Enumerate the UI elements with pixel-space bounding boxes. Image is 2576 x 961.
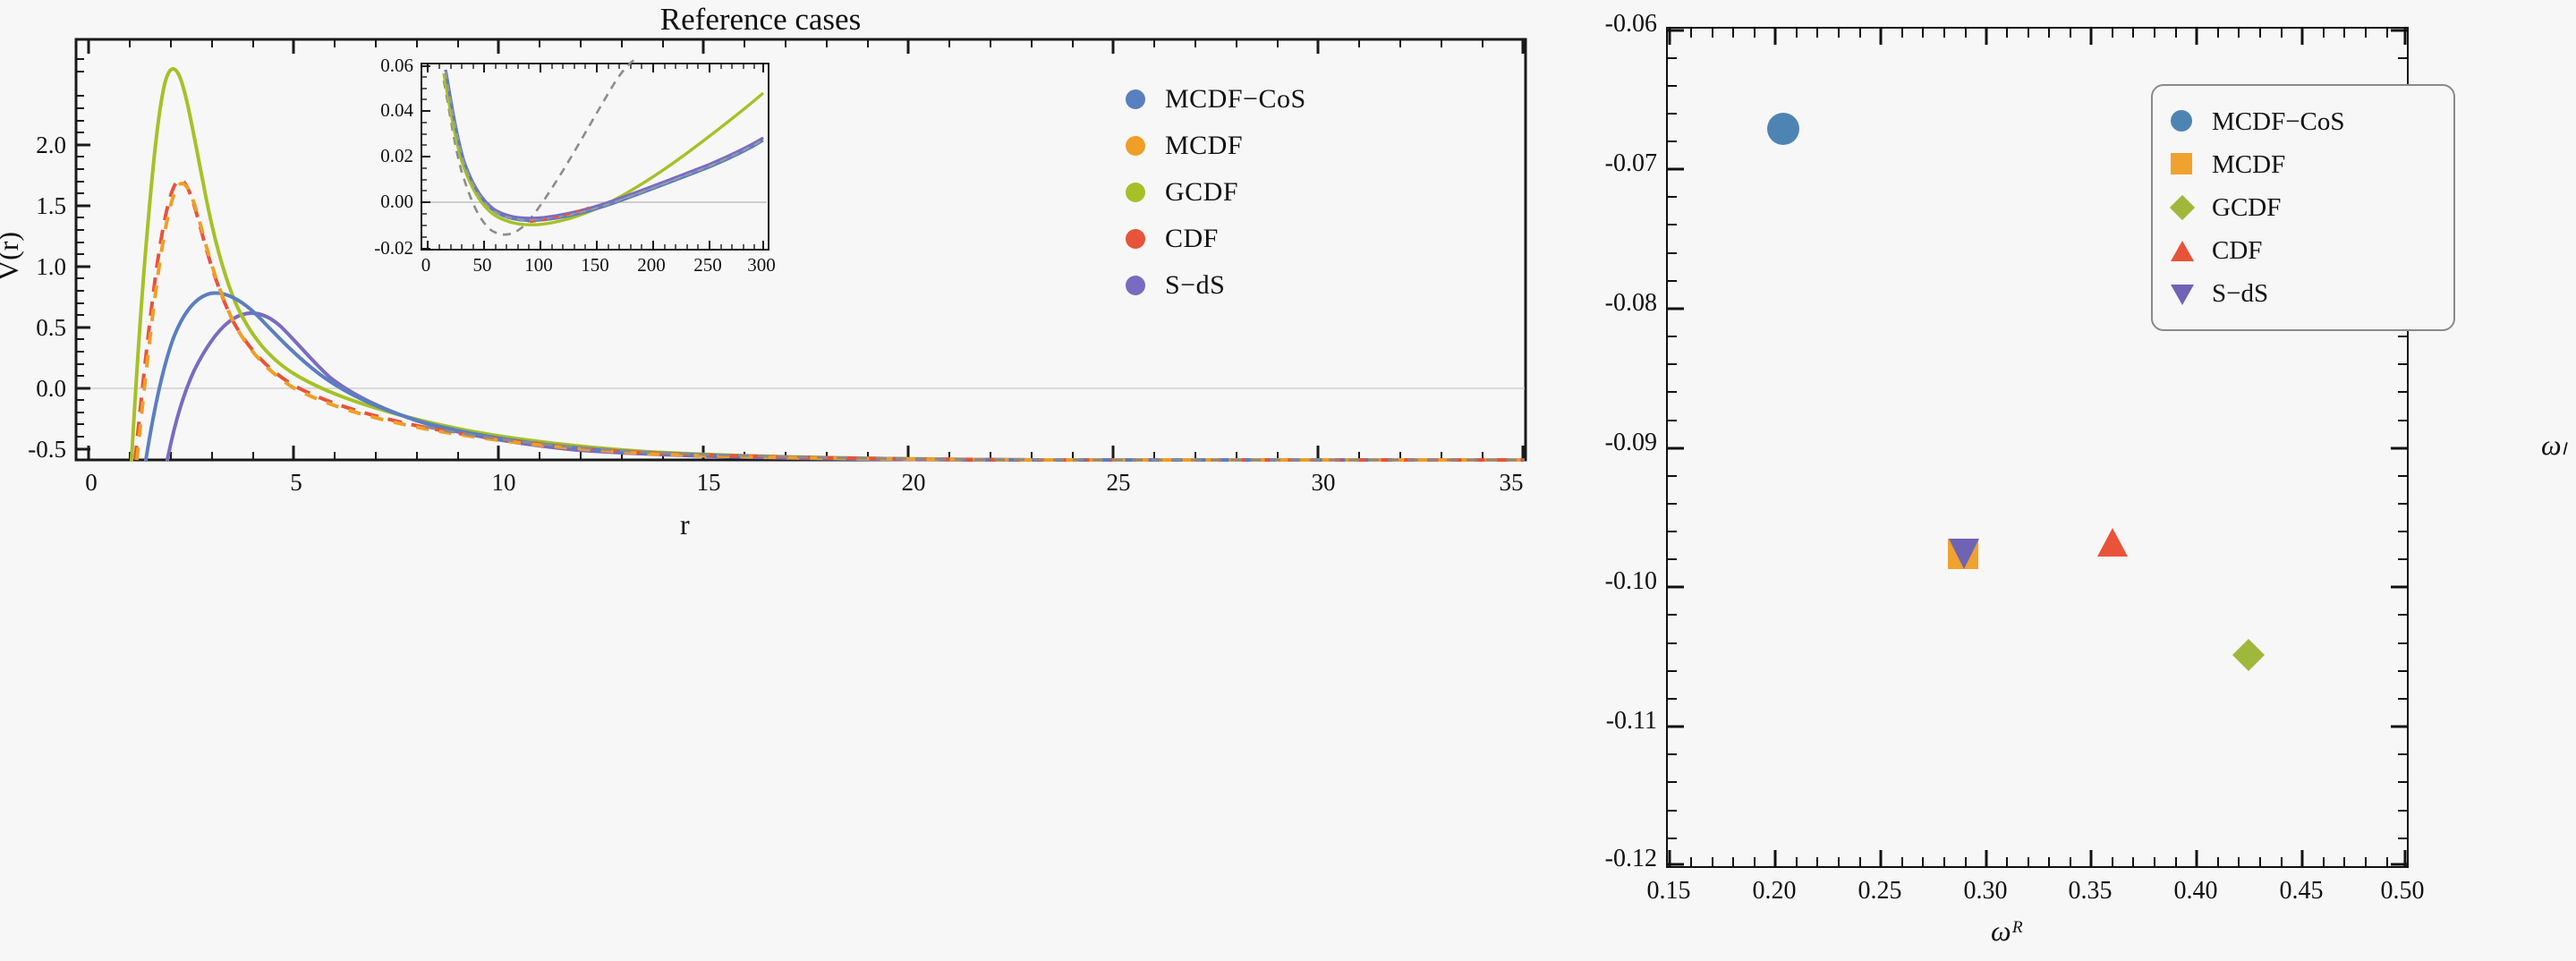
y-tick-label: 0.5	[7, 314, 66, 342]
qnm-scatter-panel: MCDF−CoS MCDF GCDF CDF	[1521, 0, 2576, 961]
legend-label: MCDF	[1165, 131, 1243, 161]
inset-y-tick-label: 0.04	[356, 99, 413, 122]
right-y-tick-label: -0.11	[1539, 707, 1657, 736]
inset-x-tick-label: 50	[464, 254, 500, 276]
legend-item-gcdf[interactable]: GCDF	[1126, 169, 1376, 216]
right-x-tick-label: 0.20	[1730, 877, 1819, 906]
legend-label: S−dS	[1165, 270, 1225, 301]
legend-item-mcdf[interactable]: MCDF	[2171, 143, 2437, 186]
page-title: Reference cases	[0, 2, 1521, 38]
legend-label: CDF	[2212, 236, 2262, 266]
right-axes-frame: MCDF−CoS MCDF GCDF CDF	[1666, 27, 2409, 868]
legend-item-mcdf-cos[interactable]: MCDF−CoS	[2171, 100, 2437, 143]
inset-x-tick-label: 150	[575, 254, 615, 276]
legend-label: MCDF	[2212, 150, 2285, 180]
legend-label: MCDF−CoS	[1165, 84, 1306, 115]
inset-y-tick-label: 0.06	[356, 55, 413, 77]
legend-item-s-ds[interactable]: S−dS	[1126, 262, 1376, 309]
right-y-tick-label: -0.12	[1539, 845, 1657, 873]
legend-marker-circle-icon	[1126, 89, 1145, 109]
left-plot-legend: MCDF−CoS MCDF GCDF CDF S−dS	[1126, 76, 1376, 309]
right-y-axis-title: ωₗ	[2541, 428, 2566, 462]
legend-item-cdf[interactable]: CDF	[2171, 229, 2437, 272]
right-y-tick-label: -0.09	[1539, 429, 1657, 457]
inset-x-tick-label: 100	[519, 254, 558, 276]
y-tick-label: 0.0	[7, 375, 66, 403]
inset-x-tick-label: 200	[632, 254, 671, 276]
right-plot-legend: MCDF−CoS MCDF GCDF CDF	[2151, 84, 2455, 331]
inset-x-tick-label: 0	[410, 254, 442, 276]
y-tick-label: 1.5	[7, 192, 66, 220]
data-point-gcdf	[2232, 639, 2265, 671]
y-axis-title: V(r)	[0, 232, 25, 281]
legend-label: GCDF	[1165, 177, 1238, 208]
x-tick-label: 15	[692, 469, 726, 497]
inset-y-tick-label: -0.02	[356, 237, 413, 259]
y-tick-label: 2.0	[7, 132, 66, 159]
inset-x-tick-label: 250	[688, 254, 727, 276]
data-point-mcdf-cos	[1767, 113, 1799, 145]
legend-label: GCDF	[2212, 193, 2281, 223]
legend-marker-circle-icon	[1126, 183, 1145, 202]
legend-label: S−dS	[2212, 279, 2268, 309]
legend-marker-square-icon	[2171, 153, 2194, 176]
legend-marker-circle-icon	[1126, 229, 1145, 249]
data-point-cdf	[2097, 528, 2128, 557]
right-x-tick-label: 0.40	[2151, 877, 2240, 906]
right-y-tick-label: -0.06	[1539, 10, 1657, 38]
x-tick-label: 25	[1101, 469, 1135, 497]
x-tick-label: 0	[77, 469, 106, 497]
legend-item-gcdf[interactable]: GCDF	[2171, 186, 2437, 229]
inset-axes-frame	[421, 63, 769, 251]
y-major-ticks	[76, 145, 90, 449]
x-tick-label: 5	[282, 469, 310, 497]
right-y-tick-label: -0.08	[1539, 289, 1657, 318]
legend-marker-circle-icon	[2171, 110, 2194, 133]
right-y-tick-label: -0.10	[1539, 567, 1657, 596]
legend-marker-triangle-down-icon	[2171, 282, 2194, 305]
right-x-tick-label: 0.35	[2045, 877, 2135, 906]
inset-plot: 0 50 100 150 200 250 300 -0.02 0.00 0.02…	[421, 63, 769, 251]
legend-item-cdf[interactable]: CDF	[1126, 216, 1376, 262]
right-x-tick-label: 0.45	[2257, 877, 2346, 906]
right-x-axis-title: ωᴿ	[1991, 914, 2024, 948]
x-tick-label: 20	[897, 469, 931, 497]
inset-curves-svg	[422, 64, 768, 249]
legend-marker-triangle-up-icon	[2171, 239, 2194, 262]
x-axis-title: r	[680, 508, 690, 541]
x-tick-label: 10	[487, 469, 521, 497]
legend-item-mcdf-cos[interactable]: MCDF−CoS	[1126, 76, 1376, 123]
legend-label: MCDF−CoS	[2212, 107, 2345, 137]
x-tick-label: 30	[1306, 469, 1340, 497]
potential-plot-panel: Reference cases	[0, 0, 1521, 961]
right-x-tick-label: 0.15	[1624, 877, 1713, 906]
y-tick-label: -0.5	[7, 436, 66, 463]
legend-marker-diamond-icon	[2171, 196, 2194, 219]
inset-y-tick-label: 0.02	[356, 145, 413, 167]
legend-marker-circle-icon	[1126, 136, 1145, 156]
legend-marker-circle-icon	[1126, 276, 1145, 295]
right-y-tick-label: -0.07	[1539, 149, 1657, 178]
right-x-tick-label: 0.30	[1941, 877, 2030, 906]
right-x-tick-label: 0.50	[2358, 877, 2447, 906]
legend-label: CDF	[1165, 224, 1219, 254]
legend-item-s-ds[interactable]: S−dS	[2171, 272, 2437, 315]
inset-y-tick-label: 0.00	[356, 191, 413, 213]
right-x-tick-label: 0.25	[1835, 877, 1925, 906]
inset-x-tick-label: 300	[742, 254, 781, 276]
legend-item-mcdf[interactable]: MCDF	[1126, 123, 1376, 169]
